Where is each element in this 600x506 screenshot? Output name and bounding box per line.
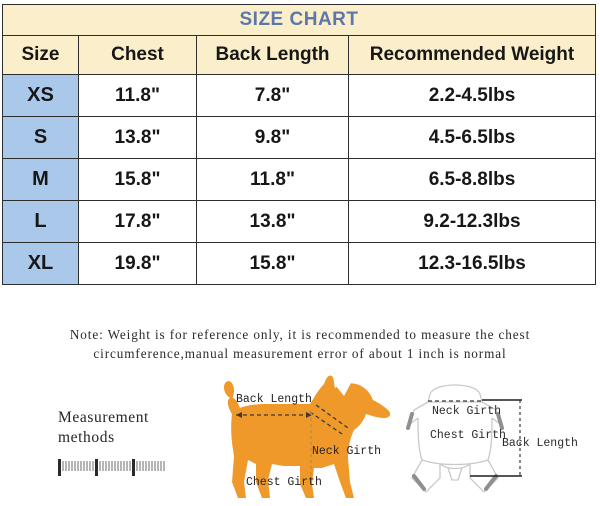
measurement-methods-line-2: methods: [58, 429, 115, 446]
cell-back-length: 11.8": [197, 159, 349, 201]
measurement-diagrams: Measurement methods: [0, 372, 600, 506]
cell-chest: 13.8": [79, 117, 197, 159]
cell-weight: 2.2-4.5lbs: [349, 75, 596, 117]
cell-size: S: [3, 117, 79, 159]
table-row: S 13.8" 9.8" 4.5-6.5lbs: [3, 117, 596, 159]
note-line-1: Note: Weight is for reference only, it i…: [70, 327, 530, 342]
cell-weight: 12.3-16.5lbs: [349, 243, 596, 285]
column-header-size: Size: [3, 36, 79, 75]
dog-tail: [224, 381, 234, 399]
column-header-back-length: Back Length: [197, 36, 349, 75]
table-title-row: SIZE CHART: [3, 5, 596, 36]
size-chart-table-container: SIZE CHART Size Chest Back Length Recomm…: [2, 4, 596, 285]
ruler-icon: [58, 458, 170, 478]
page-title: SIZE CHART: [3, 5, 596, 36]
cell-chest: 19.8": [79, 243, 197, 285]
cell-size: L: [3, 201, 79, 243]
cell-chest: 11.8": [79, 75, 197, 117]
cell-weight: 6.5-8.8lbs: [349, 159, 596, 201]
note-text: Note: Weight is for reference only, it i…: [0, 325, 600, 363]
cell-back-length: 13.8": [197, 201, 349, 243]
cell-back-length: 7.8": [197, 75, 349, 117]
column-header-chest: Chest: [79, 36, 197, 75]
cell-size: XL: [3, 243, 79, 285]
garment-label-chest-girth: Chest Girth: [430, 429, 506, 442]
column-header-weight: Recommended Weight: [349, 36, 596, 75]
cell-chest: 15.8": [79, 159, 197, 201]
garment-label-back-length: Back Length: [502, 437, 578, 450]
cell-size: M: [3, 159, 79, 201]
table-row: XS 11.8" 7.8" 2.2-4.5lbs: [3, 75, 596, 117]
dog-measurement-diagram: Back Length Neck Girth Chest Girth: [214, 372, 400, 506]
cell-size: XS: [3, 75, 79, 117]
dog-label-chest-girth: Chest Girth: [246, 476, 322, 489]
cell-chest: 17.8": [79, 201, 197, 243]
dog-label-back-length: Back Length: [236, 393, 312, 406]
table-row: M 15.8" 11.8" 6.5-8.8lbs: [3, 159, 596, 201]
cell-back-length: 9.8": [197, 117, 349, 159]
garment-label-neck-girth: Neck Girth: [432, 405, 501, 418]
measurement-methods-line-1: Measurement: [58, 409, 149, 426]
cell-weight: 4.5-6.5lbs: [349, 117, 596, 159]
size-chart-table: SIZE CHART Size Chest Back Length Recomm…: [2, 4, 596, 285]
cell-back-length: 15.8": [197, 243, 349, 285]
dog-label-neck-girth: Neck Girth: [312, 445, 381, 458]
table-row: L 17.8" 13.8" 9.2-12.3lbs: [3, 201, 596, 243]
cell-weight: 9.2-12.3lbs: [349, 201, 596, 243]
garment-limb-accents: [408, 414, 502, 489]
garment-measurement-diagram: Neck Girth Chest Girth Back Length: [400, 372, 596, 506]
table-header-row: Size Chest Back Length Recommended Weigh…: [3, 36, 596, 75]
measurement-methods-label: Measurement methods: [58, 408, 218, 448]
measurement-methods-block: Measurement methods: [58, 408, 218, 483]
table-row: XL 19.8" 15.8" 12.3-16.5lbs: [3, 243, 596, 285]
note-line-2: circumference,manual measurement error o…: [0, 344, 600, 363]
